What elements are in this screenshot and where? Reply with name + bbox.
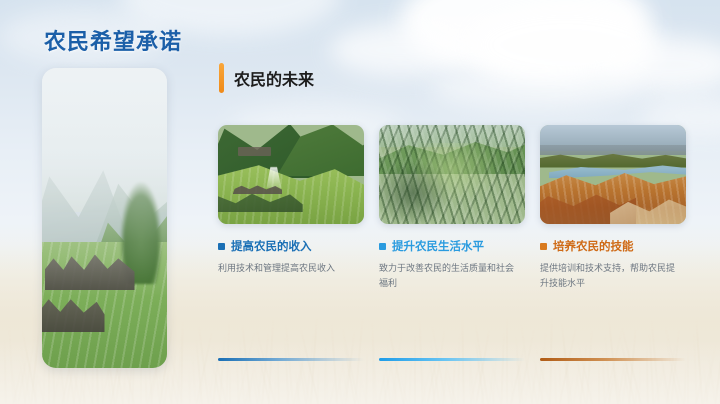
thumb-house [238,147,270,156]
presentation-slide: 农民希望承诺 农民的未来 [0,0,720,404]
cloud-shape [430,66,640,110]
card-item[interactable]: 培养农民的技能 提供培训和技术支持，帮助农民提升技能水平 [540,125,686,291]
accent-bar [219,63,224,93]
accent-rule [540,358,686,361]
accent-rule-list [218,358,688,361]
page-title: 农民希望承诺 [44,24,182,56]
card-description: 利用技术和管理提高农民收入 [218,261,360,276]
card-item[interactable]: 提高农民的收入 利用技术和管理提高农民收入 [218,125,364,291]
square-bullet-icon [218,243,225,250]
thumb-shadow [379,159,452,224]
card-thumbnail [540,125,686,224]
hero-mist-overlay [42,68,167,368]
square-bullet-icon [379,243,386,250]
cloud-shape [330,24,470,76]
card-title: 提升农民生活水平 [379,238,525,254]
card-list: 提高农民的收入 利用技术和管理提高农民收入 提升农民生活水平 致力于改善农民的生… [218,125,688,291]
card-title-label: 培养农民的技能 [553,238,634,254]
card-description: 提供培训和技术支持，帮助农民提升技能水平 [540,261,682,291]
card-title-label: 提高农民的收入 [231,238,312,254]
card-title: 培养农民的技能 [540,238,686,254]
accent-rule [218,358,364,361]
section-heading-label: 农民的未来 [234,66,314,90]
card-thumbnail [379,125,525,224]
card-description: 致力于改善农民的生活质量和社会福利 [379,261,521,291]
card-item[interactable]: 提升农民生活水平 致力于改善农民的生活质量和社会福利 [379,125,525,291]
card-thumbnail [218,125,364,224]
card-title: 提高农民的收入 [218,238,364,254]
accent-rule [379,358,525,361]
section-heading: 农民的未来 [219,63,314,93]
hero-image [42,68,167,368]
card-title-label: 提升农民生活水平 [392,238,484,254]
thumb-layer [540,145,686,155]
square-bullet-icon [540,243,547,250]
